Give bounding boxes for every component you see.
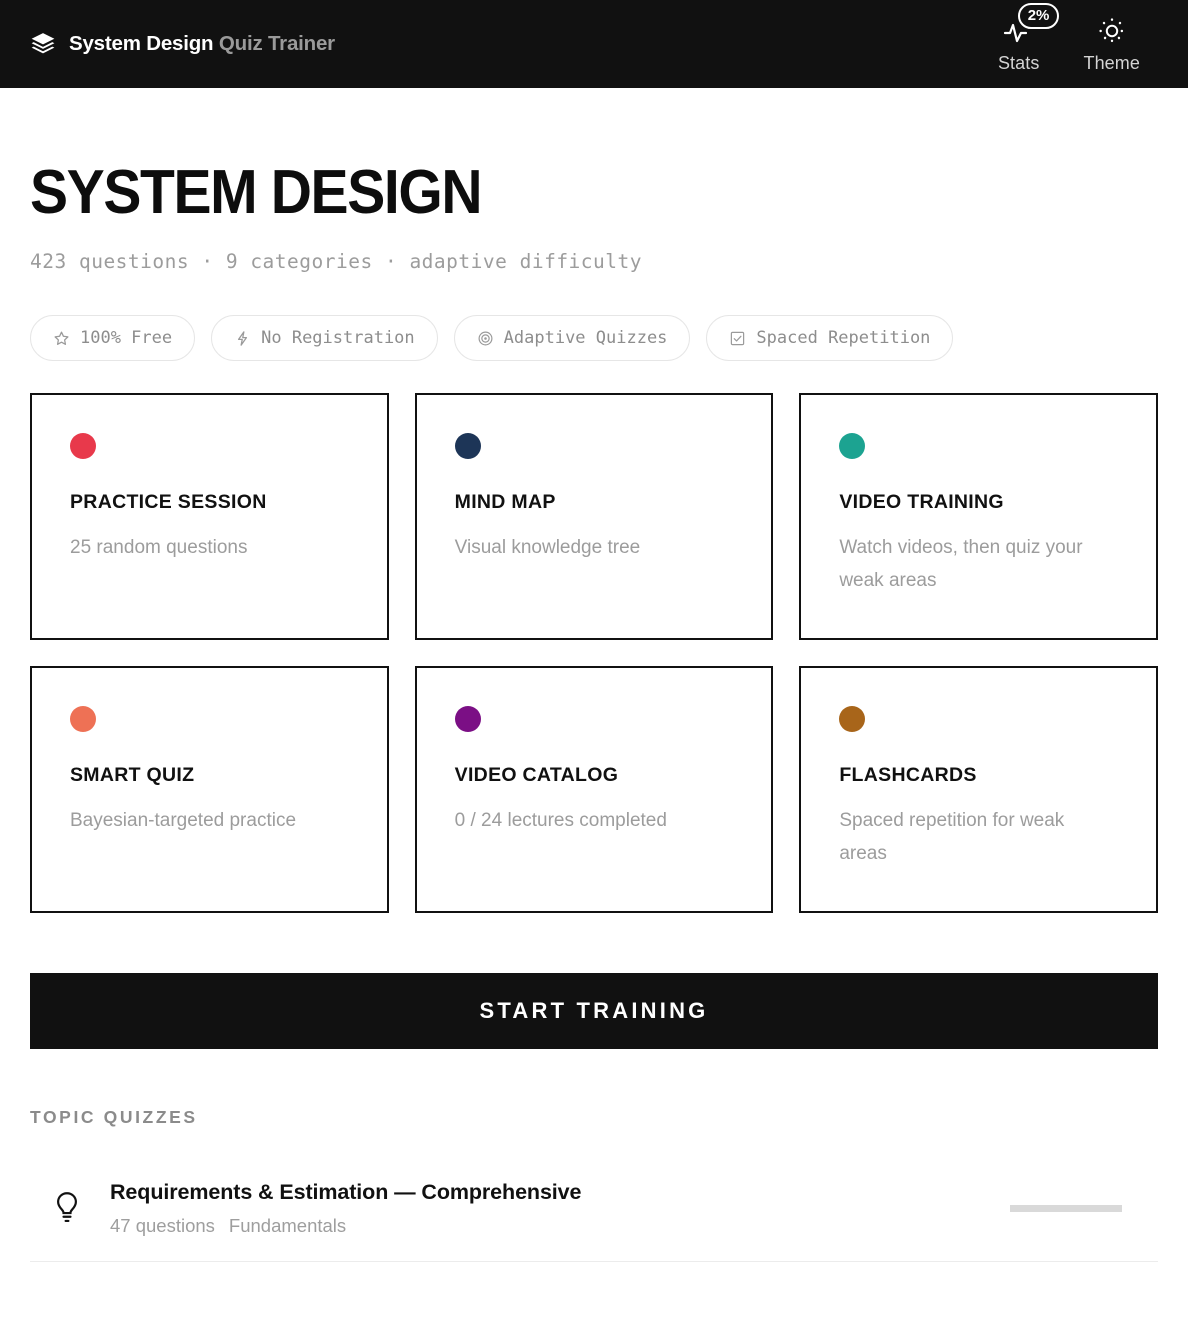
- stats-badge: 2%: [1018, 3, 1060, 29]
- mode-card-mind-map[interactable]: MIND MAP Visual knowledge tree: [415, 393, 774, 640]
- mode-card-description: 0 / 24 lectures completed: [455, 805, 715, 838]
- quiz-question-count: 47 questions: [110, 1215, 215, 1237]
- card-color-dot: [70, 706, 96, 732]
- mode-card-flashcards[interactable]: FLASHCARDS Spaced repetition for weak ar…: [799, 666, 1158, 913]
- mode-card-video-training[interactable]: VIDEO TRAINING Watch videos, then quiz y…: [799, 393, 1158, 640]
- feature-pill-row: 100% Free No Registration Adaptive Quizz…: [30, 315, 1158, 361]
- topbar-actions: 2% Stats Theme: [998, 14, 1162, 74]
- mode-card-description: Visual knowledge tree: [455, 532, 715, 565]
- page-subtitle: 423 questions · 9 categories · adaptive …: [30, 250, 1158, 273]
- feature-pill-adaptive-quizzes[interactable]: Adaptive Quizzes: [454, 315, 691, 361]
- feature-pill-label: Spaced Repetition: [756, 328, 930, 348]
- target-icon: [477, 330, 494, 347]
- list-item[interactable]: Requirements & Estimation — Comprehensiv…: [30, 1154, 1158, 1262]
- topic-quiz-list: Requirements & Estimation — Comprehensiv…: [30, 1154, 1158, 1262]
- mode-card-video-catalog[interactable]: VIDEO CATALOG 0 / 24 lectures completed: [415, 666, 774, 913]
- bolt-icon: [234, 330, 251, 347]
- feature-pill-spaced-repetition[interactable]: Spaced Repetition: [706, 315, 953, 361]
- mode-card-description: Bayesian-targeted practice: [70, 805, 330, 838]
- activity-pulse-icon: 2%: [1002, 14, 1036, 48]
- stats-label: Stats: [998, 53, 1040, 74]
- brand-name: System Design: [69, 32, 213, 55]
- mode-card-smart-quiz[interactable]: SMART QUIZ Bayesian-targeted practice: [30, 666, 389, 913]
- mode-card-description: 25 random questions: [70, 532, 330, 565]
- mode-card-practice-session[interactable]: PRACTICE SESSION 25 random questions: [30, 393, 389, 640]
- mode-card-description: Watch videos, then quiz your weak areas: [839, 532, 1099, 597]
- lightbulb-icon: [52, 1189, 86, 1229]
- feature-pill-label: No Registration: [261, 328, 415, 348]
- card-color-dot: [839, 433, 865, 459]
- card-color-dot: [839, 706, 865, 732]
- theme-button[interactable]: Theme: [1083, 14, 1140, 74]
- mode-card-description: Spaced repetition for weak areas: [839, 805, 1099, 870]
- mode-card-title: FLASHCARDS: [839, 764, 1118, 787]
- checkbox-icon: [729, 330, 746, 347]
- quiz-meta: 47 questions Fundamentals: [110, 1215, 986, 1237]
- star-icon: [53, 330, 70, 347]
- mode-card-title: SMART QUIZ: [70, 764, 349, 787]
- main-content: SYSTEM DESIGN 423 questions · 9 categori…: [0, 162, 1188, 1262]
- mode-card-title: MIND MAP: [455, 491, 734, 514]
- brand[interactable]: System Design Quiz Trainer: [30, 31, 335, 57]
- card-color-dot: [70, 433, 96, 459]
- brand-subtitle: Quiz Trainer: [219, 32, 335, 55]
- sun-icon: [1095, 14, 1129, 48]
- start-training-button[interactable]: START TRAINING: [30, 973, 1158, 1049]
- mode-card-title: PRACTICE SESSION: [70, 491, 349, 514]
- top-bar: System Design Quiz Trainer 2% Stats Them…: [0, 0, 1188, 88]
- mode-card-title: VIDEO TRAINING: [839, 491, 1118, 514]
- feature-pill-label: Adaptive Quizzes: [504, 328, 668, 348]
- feature-pill-label: 100% Free: [80, 328, 172, 348]
- card-color-dot: [455, 433, 481, 459]
- mode-card-title: VIDEO CATALOG: [455, 764, 734, 787]
- brand-text: System Design Quiz Trainer: [69, 32, 335, 56]
- layers-icon: [30, 31, 56, 57]
- theme-label: Theme: [1083, 53, 1140, 74]
- card-color-dot: [455, 706, 481, 732]
- quiz-texts: Requirements & Estimation — Comprehensiv…: [110, 1180, 986, 1237]
- stats-button[interactable]: 2% Stats: [998, 14, 1040, 74]
- feature-pill-no-registration[interactable]: No Registration: [211, 315, 438, 361]
- page-title: SYSTEM DESIGN: [30, 162, 1068, 224]
- mode-card-grid: PRACTICE SESSION 25 random questions MIN…: [30, 393, 1158, 913]
- quiz-progress-bar: [1010, 1205, 1122, 1212]
- feature-pill-free[interactable]: 100% Free: [30, 315, 195, 361]
- quiz-category: Fundamentals: [229, 1215, 346, 1237]
- topic-quizzes-heading: TOPIC QUIZZES: [30, 1107, 1158, 1128]
- quiz-title: Requirements & Estimation — Comprehensiv…: [110, 1180, 986, 1205]
